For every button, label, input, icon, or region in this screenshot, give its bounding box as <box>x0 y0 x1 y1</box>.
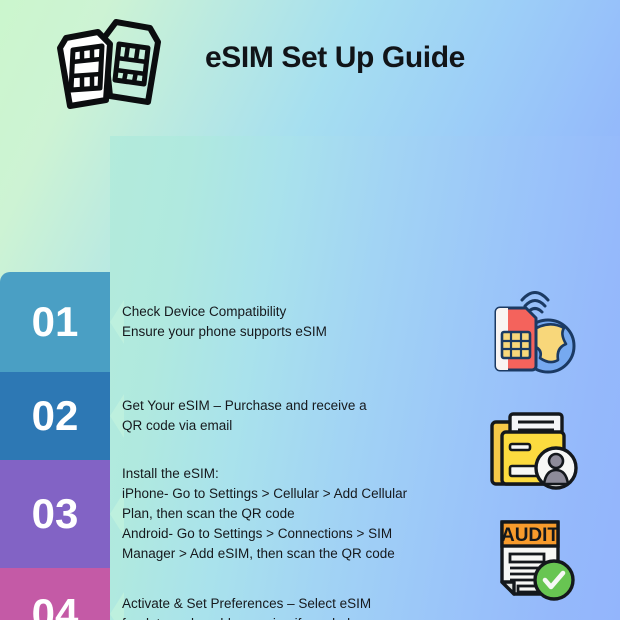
steps-panel: 01 Check Device Compatibility Ensure you… <box>0 136 620 620</box>
header: eSIM Set Up Guide <box>0 0 620 132</box>
step-line: Android- Go to Settings > Connections > … <box>122 524 452 544</box>
step-text: Get Your eSIM – Purchase and receive a Q… <box>122 372 452 460</box>
step-line: Check Device Compatibility <box>122 302 452 322</box>
step-number: 04 <box>0 592 110 620</box>
folder-user-icon <box>484 398 580 494</box>
step-line: Get Your eSIM – Purchase and receive a <box>122 396 452 416</box>
step-number: 03 <box>0 492 110 536</box>
step-line: Install the eSIM: <box>122 464 452 484</box>
page-title: eSIM Set Up Guide <box>205 38 535 78</box>
sim-cards-icon <box>44 14 168 114</box>
audit-label: AUDIT <box>501 525 559 546</box>
step-band: 03 <box>0 460 110 568</box>
step-text: Check Device Compatibility Ensure your p… <box>122 272 452 372</box>
step-text: Activate & Set Preferences – Select eSIM… <box>122 568 452 620</box>
step-line: Ensure your phone supports eSIM <box>122 322 452 342</box>
esim-setup-infographic: eSIM Set Up Guide 01 Check Device Compat… <box>0 0 620 620</box>
step-line: QR code via email <box>122 416 452 436</box>
step-number: 02 <box>0 394 110 438</box>
step-number: 01 <box>0 300 110 344</box>
step-line: Manager > Add eSIM, then scan the QR cod… <box>122 544 452 564</box>
step-line: Activate & Set Preferences – Select eSIM <box>122 594 452 614</box>
step-band: 02 <box>0 372 110 460</box>
sim-globe-icon <box>484 288 580 384</box>
step-band: 04 <box>0 568 110 620</box>
step-line: for data and enable roaming if needed <box>122 614 452 620</box>
step-line: iPhone- Go to Settings > Cellular > Add … <box>122 484 452 504</box>
step-text: Install the eSIM: iPhone- Go to Settings… <box>122 460 452 568</box>
step-band: 01 <box>0 272 110 372</box>
audit-document-icon: AUDIT <box>484 512 580 608</box>
step-line: Plan, then scan the QR code <box>122 504 452 524</box>
